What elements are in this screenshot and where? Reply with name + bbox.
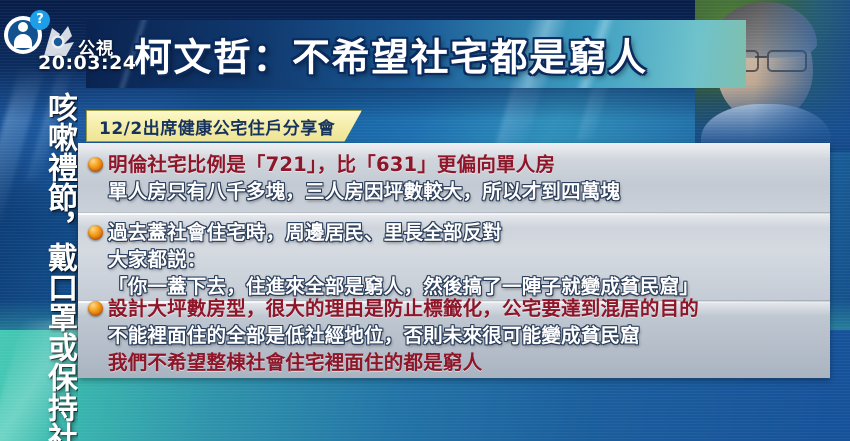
bullet-line: 過去蓋社會住宅時，周邊居民、里長全部反對 xyxy=(108,219,830,246)
event-tag-label: 12/2出席健康公宅住戶分享會 xyxy=(99,114,335,139)
bullet-group-3: 設計大坪數房型，很大的理由是防止標籤化，公宅要達到混居的目的 不能裡面住的全部是… xyxy=(78,295,830,376)
bullet-group-3-lines: 設計大坪數房型，很大的理由是防止標籤化，公宅要達到混居的目的 不能裡面住的全部是… xyxy=(108,295,830,376)
avatar[interactable]: ? xyxy=(4,10,50,56)
bullet-line: 單人房只有八千多塊，三人房因坪數較大，所以才到四萬塊 xyxy=(108,178,830,205)
bullet-group-2: 過去蓋社會住宅時，周邊居民、里長全部反對 大家都説： 「你一蓋下去，住進來全部是… xyxy=(78,219,830,300)
bullet-line: 我們不希望整棟社會住宅裡面住的都是窮人 xyxy=(108,349,830,376)
headline-bar: 柯文哲：不希望社宅都是窮人 xyxy=(86,20,746,88)
bullet-line: 大家都説： xyxy=(108,246,830,273)
event-tag-shape: 12/2出席健康公宅住戶分享會 xyxy=(86,110,362,142)
user-icon-head xyxy=(18,22,28,32)
bullet-group-1: 明倫社宅比例是「721」，比「631」更偏向單人房 單人房只有八千多塊，三人房因… xyxy=(78,151,830,205)
orange-sphere-bullet-icon xyxy=(88,157,103,172)
bullet-line: 不能裡面住的全部是低社經地位，否則未來很可能變成貧民窟 xyxy=(108,322,830,349)
vertical-ticker: 咳嗽禮節，戴口罩或保持社 xyxy=(30,92,78,441)
question-mark-icon[interactable]: ? xyxy=(30,10,50,30)
user-icon xyxy=(14,22,32,48)
bullet-group-1-lines: 明倫社宅比例是「721」，比「631」更偏向單人房 單人房只有八千多塊，三人房因… xyxy=(108,151,830,205)
broadcast-screen: 柯文哲：不希望社宅都是窮人 12/2出席健康公宅住戶分享會 明倫社宅比例是「72… xyxy=(0,0,850,441)
bullet-line: 明倫社宅比例是「721」，比「631」更偏向單人房 xyxy=(108,151,830,178)
orange-sphere-bullet-icon xyxy=(88,301,103,316)
bullet-group-2-lines: 過去蓋社會住宅時，周邊居民、里長全部反對 大家都説： 「你一蓋下去，住進來全部是… xyxy=(108,219,830,300)
page-title: 柯文哲：不希望社宅都是窮人 xyxy=(134,27,648,82)
content-panel: 明倫社宅比例是「721」，比「631」更偏向單人房 單人房只有八千多塊，三人房因… xyxy=(78,143,830,378)
bullet-line: 設計大坪數房型，很大的理由是防止標籤化，公宅要達到混居的目的 xyxy=(108,295,830,322)
broadcast-clock: 20:03:24 xyxy=(38,52,137,74)
orange-sphere-bullet-icon xyxy=(88,225,103,240)
event-tag: 12/2出席健康公宅住戶分享會 xyxy=(86,110,362,140)
user-icon-body xyxy=(14,34,32,48)
